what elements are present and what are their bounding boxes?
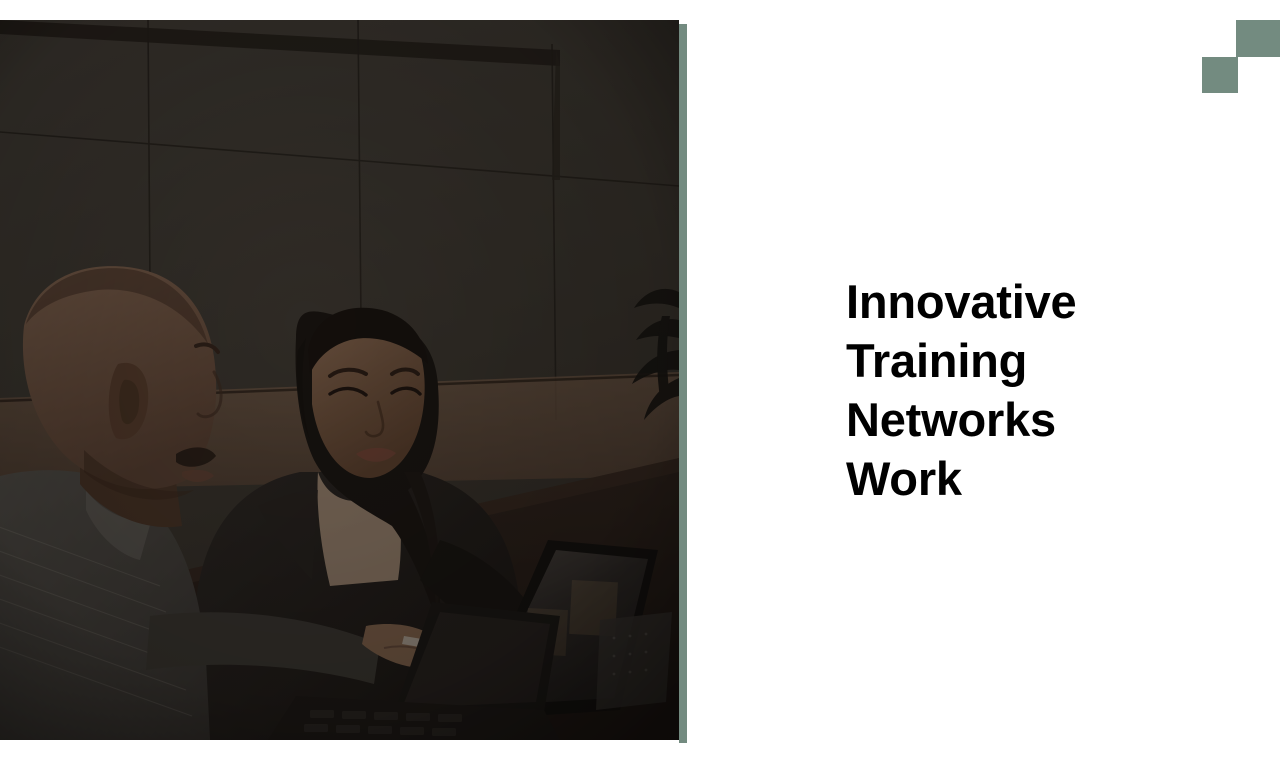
photo-accent-strip <box>679 24 687 743</box>
accent-square-lower <box>1202 57 1238 93</box>
slide-canvas: Innovative Training Networks Work <box>0 0 1280 760</box>
photo-illustration <box>0 20 679 740</box>
photo-frame <box>0 20 679 740</box>
title-line-1: Innovative <box>846 272 1226 331</box>
accent-square-upper <box>1236 20 1280 57</box>
photo-image <box>0 20 679 740</box>
title-line-2: Training <box>846 331 1226 390</box>
page-title: Innovative Training Networks Work <box>846 272 1226 508</box>
title-line-3: Networks <box>846 390 1226 449</box>
title-line-4: Work <box>846 449 1226 508</box>
